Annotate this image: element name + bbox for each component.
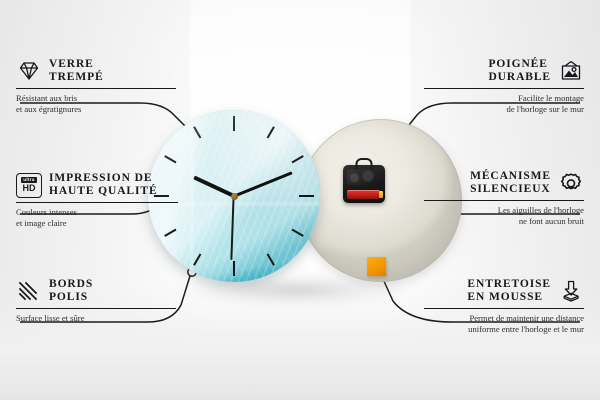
diamond-icon (16, 59, 42, 83)
feature-verre-trempe[interactable]: VERRE TREMPÉ Résistant aux bris et aux é… (16, 58, 176, 115)
feature-subtitle: Surface lisse et sûre (16, 313, 176, 324)
feature-divider (424, 308, 584, 309)
feature-header: ultra HD IMPRESSION DE HAUTE QUALITÉ (16, 172, 178, 198)
feature-poignee-durable[interactable]: POIGNÉE DURABLE Facilite le montage de l… (424, 58, 584, 115)
battery-terminal (379, 191, 383, 198)
feature-subtitle: Les aiguilles de l'horloge ne font aucun… (424, 205, 584, 227)
feature-header: ENTRETOISE EN MOUSSE (424, 278, 584, 304)
infographic-canvas: VERRE TREMPÉ Résistant aux bris et aux é… (0, 0, 600, 400)
feature-subtitle: Permet de maintenir une distance uniform… (424, 313, 584, 335)
feature-impression-haute-qualite[interactable]: ultra HD IMPRESSION DE HAUTE QUALITÉ Cou… (16, 172, 178, 229)
feature-divider (424, 200, 584, 201)
feature-title: MÉCANISME SILENCIEUX (470, 170, 551, 196)
foam-spacer (367, 257, 386, 276)
feature-title: ENTRETOISE EN MOUSSE (467, 278, 551, 304)
feature-subtitle: Couleurs intenses et image claire (16, 207, 178, 229)
feature-header: MÉCANISME SILENCIEUX (424, 170, 584, 196)
feature-divider (16, 202, 178, 203)
feature-divider (424, 88, 584, 89)
feature-divider (16, 308, 176, 309)
feature-header: BORDS POLIS (16, 278, 176, 304)
down-arrow-pad-icon (558, 279, 584, 303)
gear-icon (558, 171, 584, 195)
feature-divider (16, 88, 176, 89)
feature-title: IMPRESSION DE HAUTE QUALITÉ (49, 172, 158, 198)
diagonal-lines-icon (16, 279, 42, 303)
feature-bords-polis[interactable]: BORDS POLIS Surface lisse et sûre (16, 278, 176, 324)
feature-subtitle: Facilite le montage de l'horloge sur le … (424, 93, 584, 115)
mechanism-housing-detail (347, 169, 381, 185)
feature-title: BORDS POLIS (49, 278, 93, 304)
feature-subtitle: Résistant aux bris et aux égratignures (16, 93, 176, 115)
ultra-hd-icon: ultra HD (16, 173, 42, 198)
clock-mechanism (343, 165, 385, 203)
feature-mecanisme-silencieux[interactable]: MÉCANISME SILENCIEUX Les aiguilles de l'… (424, 170, 584, 227)
feature-header: POIGNÉE DURABLE (424, 58, 584, 84)
feature-title: POIGNÉE DURABLE (488, 58, 551, 84)
feature-title: VERRE TREMPÉ (49, 58, 104, 84)
feature-entretoise-en-mousse[interactable]: ENTRETOISE EN MOUSSE Permet de maintenir… (424, 278, 584, 335)
framed-picture-icon (558, 59, 584, 83)
feature-header: VERRE TREMPÉ (16, 58, 176, 84)
battery (347, 190, 380, 199)
